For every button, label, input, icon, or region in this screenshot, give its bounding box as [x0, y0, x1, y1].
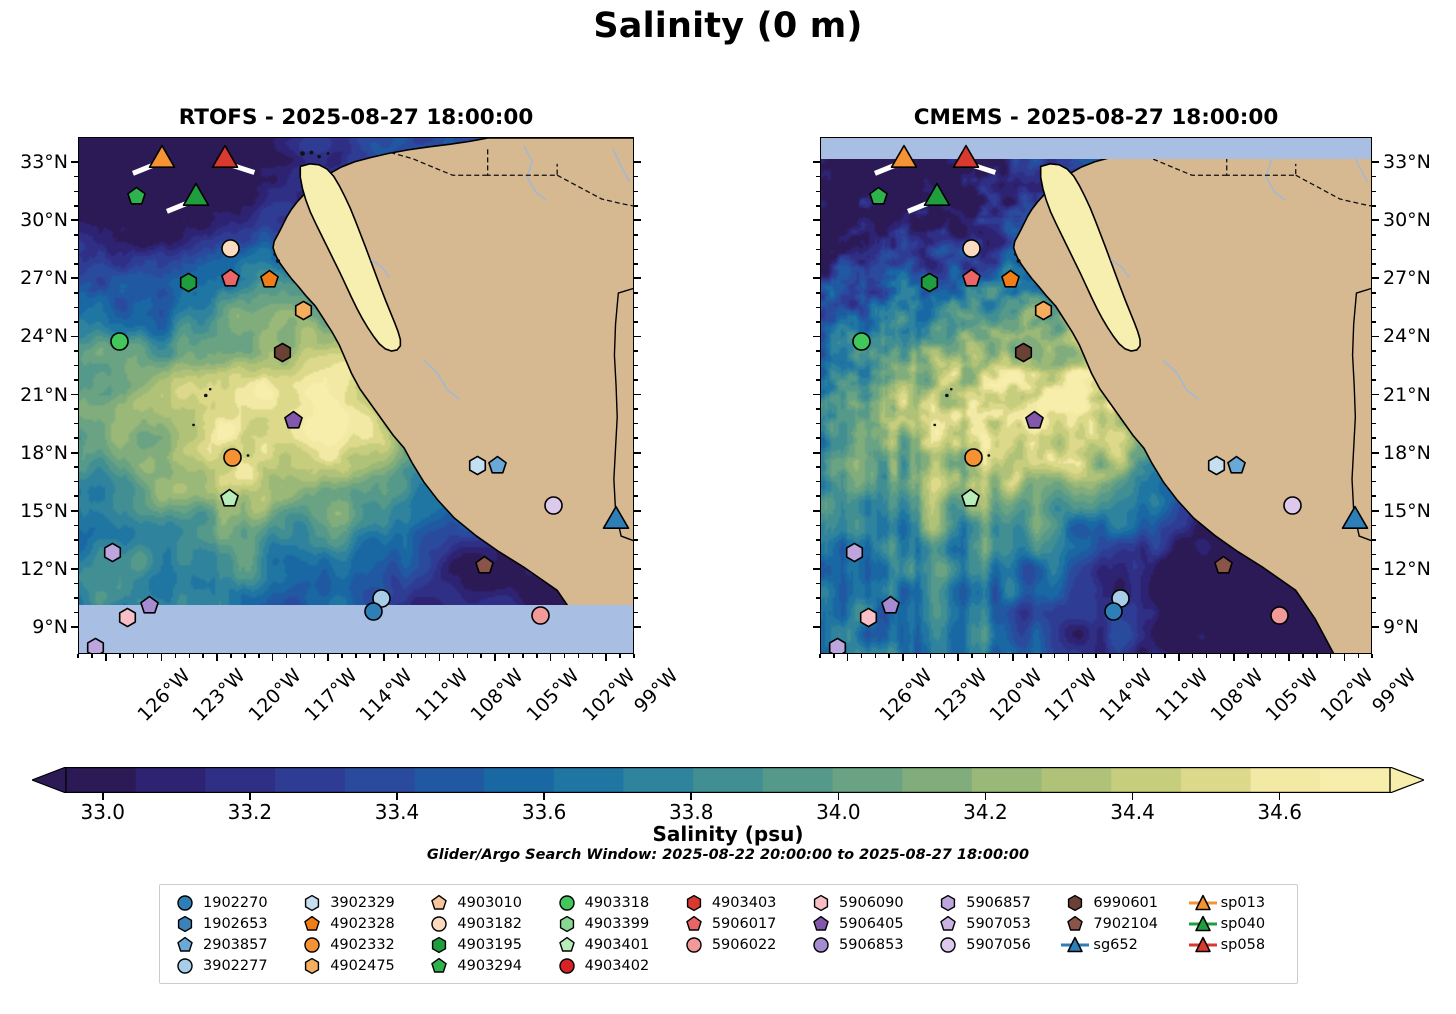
lat-tick-minor	[634, 583, 638, 585]
lat-tick-minor	[634, 176, 638, 178]
legend-label: 5906022	[709, 937, 777, 953]
lat-tick-major	[813, 161, 820, 163]
lon-tick-major	[1178, 654, 1180, 661]
lat-label: 30°N	[0, 211, 68, 230]
legend-column: 69906017902104sg652	[1060, 892, 1187, 978]
observation-marker-4903195[interactable]	[919, 272, 940, 293]
observation-marker-5906017[interactable]	[961, 268, 982, 289]
lat-label: 15°N	[0, 502, 68, 521]
lon-tick-major	[550, 654, 552, 661]
observation-marker-4903318[interactable]	[851, 331, 872, 352]
legend-item-sg652[interactable]: sg652	[1060, 934, 1187, 955]
legend-item-5907053[interactable]: 5907053	[933, 913, 1060, 934]
lon-tick-minor	[202, 654, 204, 658]
lon-tick-minor	[1261, 654, 1263, 658]
observation-marker-4902475[interactable]	[1033, 300, 1054, 321]
colorbar-tick-label: 34.4	[1110, 800, 1155, 824]
observation-marker-3902329[interactable]	[467, 455, 488, 476]
lon-tick-major	[1012, 654, 1014, 661]
lat-tick-major	[71, 277, 78, 279]
lon-label: 126°W	[135, 666, 194, 725]
lat-tick-minor	[74, 321, 78, 323]
lat-tick-minor	[1372, 379, 1376, 381]
legend-item-2903857[interactable]: 2903857	[170, 934, 297, 955]
lon-tick-minor	[1275, 654, 1277, 658]
lon-tick-minor	[1302, 654, 1304, 658]
lon-tick-minor	[300, 654, 302, 658]
lon-tick-minor	[411, 654, 413, 658]
lat-tick-minor	[816, 525, 820, 527]
lon-tick-minor	[1371, 654, 1373, 658]
legend-label: 5907053	[963, 916, 1031, 932]
legend-marker-1902653-icon	[170, 915, 200, 933]
observation-marker-sp013[interactable]	[148, 146, 176, 174]
legend-marker-5906405-icon	[806, 915, 836, 933]
legend-item-sp058[interactable]: sp058	[1188, 934, 1287, 955]
observation-marker-5907056[interactable]	[1282, 495, 1303, 516]
lat-tick-minor	[1372, 525, 1376, 527]
lat-tick-minor	[634, 408, 638, 410]
observation-marker-5906022[interactable]	[1269, 605, 1290, 626]
lon-tick-minor	[314, 654, 316, 658]
observation-marker-1902653[interactable]	[85, 637, 106, 654]
legend-label: 5906857	[963, 895, 1031, 911]
lat-tick-major	[1372, 336, 1379, 338]
lon-tick-minor	[944, 654, 946, 658]
lon-label: 120°W	[246, 666, 305, 725]
lon-label: 123°W	[932, 666, 991, 725]
observation-marker-1902270[interactable]	[363, 601, 384, 622]
lon-tick-major	[847, 654, 849, 661]
legend-item-4902332[interactable]: 4902332	[297, 934, 424, 955]
legend-item-5906022[interactable]: 5906022	[679, 934, 806, 955]
lon-label: 117°W	[1042, 666, 1101, 725]
lat-tick-minor	[74, 612, 78, 614]
legend-marker-5906853-icon	[806, 936, 836, 954]
legend-item-5906017[interactable]: 5906017	[679, 913, 806, 934]
observation-marker-5906022[interactable]	[530, 605, 551, 626]
legend-item-3902329[interactable]: 3902329	[297, 892, 424, 913]
legend-marker-4903403-icon	[679, 894, 709, 912]
observation-marker-sp040[interactable]	[923, 184, 951, 212]
lon-label: 108°W	[468, 666, 527, 725]
lat-tick-minor	[74, 205, 78, 207]
lon-tick-major	[105, 654, 107, 661]
observation-marker-sg652[interactable]	[602, 507, 630, 535]
observation-marker-2903857[interactable]	[487, 455, 508, 476]
lat-tick-minor	[1372, 205, 1376, 207]
legend-item-5906090[interactable]: 5906090	[806, 892, 933, 913]
observation-marker-5907056[interactable]	[543, 495, 564, 516]
lon-tick-minor	[861, 654, 863, 658]
legend-marker-4903401-icon	[552, 936, 582, 954]
lat-tick-minor	[634, 466, 638, 468]
lon-tick-minor	[564, 654, 566, 658]
lon-tick-minor	[578, 654, 580, 658]
lon-label: 111°W	[413, 666, 472, 725]
lat-tick-minor	[74, 597, 78, 599]
observation-marker-4902328[interactable]	[259, 269, 280, 290]
legend-label: sg652	[1090, 937, 1137, 953]
legend-marker-5906017-icon	[679, 915, 709, 933]
legend-item-4903195[interactable]: 4903195	[424, 934, 551, 955]
legend-label: 2903857	[200, 937, 268, 953]
observation-marker-sp058[interactable]	[211, 146, 239, 174]
lon-tick-minor	[1054, 654, 1056, 658]
observation-marker-sp058[interactable]	[952, 146, 980, 174]
lat-tick-minor	[816, 234, 820, 236]
legend-item-5906853[interactable]: 5906853	[806, 934, 933, 955]
lon-tick-major	[1233, 654, 1235, 661]
lat-tick-minor	[74, 307, 78, 309]
legend-label: 1902653	[200, 916, 268, 932]
lon-tick-minor	[453, 654, 455, 658]
lon-label: 102°W	[580, 666, 639, 725]
legend-item-4903401[interactable]: 4903401	[552, 934, 679, 955]
observation-marker-sg652[interactable]	[1341, 507, 1369, 535]
observation-marker-7902104[interactable]	[474, 555, 495, 576]
observation-marker-4903294[interactable]	[868, 186, 889, 207]
lat-tick-minor	[816, 292, 820, 294]
lat-tick-major	[634, 568, 641, 570]
lat-tick-minor	[816, 249, 820, 251]
map-panel-cmems[interactable]	[820, 137, 1372, 654]
lat-tick-minor	[816, 379, 820, 381]
observation-marker-4903195[interactable]	[178, 272, 199, 293]
lon-tick-minor	[1040, 654, 1042, 658]
lat-tick-major	[634, 626, 641, 628]
legend-item-4903294[interactable]: 4903294	[424, 955, 551, 976]
lat-tick-minor	[816, 597, 820, 599]
legend-item-5907056[interactable]: 5907056	[933, 934, 1060, 955]
observation-marker-5906857[interactable]	[102, 542, 123, 563]
legend-marker-5907056-icon	[933, 936, 963, 954]
legend-column: 1902270190265329038573902277	[170, 892, 297, 978]
legend-item-4903182[interactable]: 4903182	[424, 913, 551, 934]
lat-tick-minor	[634, 263, 638, 265]
legend-item-4903318[interactable]: 4903318	[552, 892, 679, 913]
colorbar-tick	[838, 793, 840, 800]
colorbar-tick	[396, 793, 398, 800]
legend-marker-5906022-icon	[679, 936, 709, 954]
lon-tick-minor	[1316, 654, 1318, 658]
colorbar-tick-label: 33.8	[669, 800, 714, 824]
lat-tick-minor	[816, 408, 820, 410]
lat-tick-major	[634, 394, 641, 396]
lon-tick-minor	[397, 654, 399, 658]
legend-marker-4903182-icon	[424, 915, 454, 933]
observation-marker-sp040[interactable]	[182, 184, 210, 212]
observation-marker-5906853[interactable]	[139, 595, 160, 616]
legend-item-sp013[interactable]: sp013	[1188, 892, 1287, 913]
lat-label: 24°N	[1383, 327, 1431, 346]
lat-label: 18°N	[1383, 444, 1431, 463]
lon-tick-minor	[1358, 654, 1360, 658]
lon-label: 114°W	[1097, 666, 1156, 725]
lon-tick-major	[327, 654, 329, 661]
lon-tick-minor	[971, 654, 973, 658]
lat-tick-minor	[74, 365, 78, 367]
lat-tick-minor	[634, 597, 638, 599]
lat-label: 12°N	[0, 560, 68, 579]
observation-marker-5906405[interactable]	[1024, 410, 1045, 431]
observation-marker-4902475[interactable]	[293, 300, 314, 321]
observation-marker-5906857[interactable]	[844, 542, 865, 563]
lat-tick-major	[813, 219, 820, 221]
lon-tick-minor	[1082, 654, 1084, 658]
lon-label: 120°W	[987, 666, 1046, 725]
legend-column: 590609059064055906853	[806, 892, 933, 978]
lon-tick-minor	[147, 654, 149, 658]
colorbar-tick-label: 33.6	[522, 800, 567, 824]
lon-tick-major	[902, 654, 904, 661]
lon-tick-minor	[1137, 654, 1139, 658]
legend-item-4903402[interactable]: 4903402	[552, 955, 679, 976]
observation-marker-5906853[interactable]	[880, 595, 901, 616]
lon-tick-minor	[189, 654, 191, 658]
legend-label: sp058	[1218, 937, 1265, 953]
lat-tick-minor	[816, 554, 820, 556]
observation-marker-7902104[interactable]	[1213, 555, 1234, 576]
lat-tick-minor	[1372, 321, 1376, 323]
observation-marker-4902328[interactable]	[1000, 269, 1021, 290]
lat-tick-minor	[816, 495, 820, 497]
lat-tick-major	[71, 161, 78, 163]
legend-item-1902270[interactable]: 1902270	[170, 892, 297, 913]
lat-tick-minor	[1372, 583, 1376, 585]
lon-tick-minor	[888, 654, 890, 658]
observation-marker-5906090[interactable]	[858, 607, 879, 628]
lon-label: 105°W	[1263, 666, 1322, 725]
lon-tick-major	[1344, 654, 1346, 661]
lat-tick-minor	[816, 321, 820, 323]
colorbar-tick	[690, 793, 692, 800]
lon-tick-minor	[522, 654, 524, 658]
legend-item-3902277[interactable]: 3902277	[170, 955, 297, 976]
lat-tick-minor	[634, 292, 638, 294]
panel-title-rtofs: RTOFS - 2025-08-27 18:00:00	[78, 105, 634, 130]
lon-label: 117°W	[302, 666, 361, 725]
platform-legend: 1902270190265329038573902277390232949023…	[159, 884, 1298, 984]
legend-item-7902104[interactable]: 7902104	[1060, 913, 1187, 934]
lat-tick-minor	[1372, 350, 1376, 352]
legend-label: 3902329	[327, 895, 395, 911]
lat-tick-minor	[816, 612, 820, 614]
lat-tick-major	[813, 510, 820, 512]
lat-tick-minor	[1372, 191, 1376, 193]
lon-tick-minor	[1220, 654, 1222, 658]
legend-label: 6990601	[1090, 895, 1158, 911]
lon-tick-minor	[619, 654, 621, 658]
legend-label: 4903402	[582, 958, 650, 974]
lon-tick-minor	[1026, 654, 1028, 658]
observation-marker-4902332[interactable]	[963, 447, 984, 468]
lat-tick-minor	[74, 495, 78, 497]
colorbar-tick	[1279, 793, 1281, 800]
legend-marker-4902328-icon	[297, 915, 327, 933]
lat-tick-minor	[74, 292, 78, 294]
lon-label: 123°W	[190, 666, 249, 725]
lat-tick-minor	[74, 481, 78, 483]
lat-label: 27°N	[0, 269, 68, 288]
lon-label: 126°W	[877, 666, 936, 725]
lon-tick-major	[494, 654, 496, 661]
legend-item-4902475[interactable]: 4902475	[297, 955, 424, 976]
legend-marker-4903294-icon	[424, 957, 454, 975]
legend-label: 4903403	[709, 895, 777, 911]
lon-tick-minor	[244, 654, 246, 658]
lat-tick-major	[71, 336, 78, 338]
lat-label: 21°N	[1383, 386, 1431, 405]
observation-marker-4902332[interactable]	[222, 447, 243, 468]
lat-tick-minor	[634, 365, 638, 367]
legend-marker-sp058-icon	[1188, 936, 1218, 954]
legend-label: 5906853	[836, 937, 904, 953]
observation-marker-3902329[interactable]	[1206, 455, 1227, 476]
legend-column: sp013sp040sp058	[1188, 892, 1287, 978]
lon-label: 114°W	[357, 666, 416, 725]
legend-item-1902653[interactable]: 1902653	[170, 913, 297, 934]
lat-tick-major	[813, 336, 820, 338]
map-panel-rtofs[interactable]	[78, 137, 634, 654]
legend-column: 4903010490318249031954903294	[424, 892, 551, 978]
lat-tick-minor	[74, 554, 78, 556]
legend-label: 4903401	[582, 937, 650, 953]
legend-marker-4903195-icon	[424, 936, 454, 954]
lon-tick-major	[272, 654, 274, 661]
lat-tick-major	[813, 277, 820, 279]
legend-item-sp040[interactable]: sp040	[1188, 913, 1287, 934]
lat-label: 33°N	[1383, 153, 1431, 172]
lon-tick-minor	[1192, 654, 1194, 658]
lat-tick-major	[634, 161, 641, 163]
lon-tick-minor	[286, 654, 288, 658]
observation-marker-4903401[interactable]	[960, 488, 981, 509]
lon-tick-minor	[425, 654, 427, 658]
lat-label: 24°N	[0, 327, 68, 346]
legend-marker-2903857-icon	[170, 936, 200, 954]
legend-label: 4903294	[454, 958, 522, 974]
lat-tick-major	[813, 568, 820, 570]
lat-tick-major	[634, 510, 641, 512]
lat-tick-minor	[634, 350, 638, 352]
observation-marker-1902270[interactable]	[1103, 601, 1124, 622]
observation-marker-4903294[interactable]	[126, 186, 147, 207]
lat-label: 21°N	[0, 386, 68, 405]
legend-item-5906405[interactable]: 5906405	[806, 913, 933, 934]
figure-title: Salinity (0 m)	[0, 6, 1456, 46]
lat-tick-minor	[74, 466, 78, 468]
lat-tick-minor	[816, 466, 820, 468]
legend-item-6990601[interactable]: 6990601	[1060, 892, 1187, 913]
lat-tick-minor	[816, 365, 820, 367]
observation-marker-sp013[interactable]	[890, 146, 918, 174]
lon-tick-major	[1288, 654, 1290, 661]
legend-marker-4902475-icon	[297, 957, 327, 975]
legend-column: 3902329490232849023324902475	[297, 892, 424, 978]
lat-tick-minor	[1372, 365, 1376, 367]
lon-tick-minor	[119, 654, 121, 658]
legend-marker-sg652-icon	[1060, 936, 1090, 954]
observation-marker-1902653[interactable]	[827, 637, 848, 654]
lon-tick-minor	[1109, 654, 1111, 658]
colorbar-title: Salinity (psu)	[0, 822, 1456, 846]
lon-tick-major	[957, 654, 959, 661]
lat-tick-minor	[74, 423, 78, 425]
legend-item-4902328[interactable]: 4902328	[297, 913, 424, 934]
legend-marker-4903399-icon	[552, 915, 582, 933]
lat-tick-major	[1372, 568, 1379, 570]
lat-tick-major	[71, 626, 78, 628]
lat-tick-minor	[816, 423, 820, 425]
lat-label: 12°N	[1383, 560, 1431, 579]
lon-tick-minor	[175, 654, 177, 658]
legend-label: 5906017	[709, 916, 777, 932]
legend-marker-6990601-icon	[1060, 894, 1090, 912]
lat-tick-minor	[816, 583, 820, 585]
lat-tick-major	[71, 452, 78, 454]
observation-marker-6990601[interactable]	[1013, 342, 1034, 363]
legend-item-4903399[interactable]: 4903399	[552, 913, 679, 934]
observation-marker-5906017[interactable]	[220, 268, 241, 289]
lat-tick-minor	[1372, 437, 1376, 439]
observation-marker-4903318[interactable]	[109, 331, 130, 352]
lat-tick-minor	[1372, 554, 1376, 556]
lat-tick-minor	[1372, 495, 1376, 497]
lat-tick-minor	[816, 350, 820, 352]
lat-tick-major	[1372, 510, 1379, 512]
observation-marker-4903182[interactable]	[961, 238, 982, 259]
lon-tick-minor	[633, 654, 635, 658]
lat-tick-major	[71, 219, 78, 221]
lon-label: 102°W	[1318, 666, 1377, 725]
legend-item-4903403[interactable]: 4903403	[679, 892, 806, 913]
observation-marker-6990601[interactable]	[272, 342, 293, 363]
legend-label: sp013	[1218, 895, 1265, 911]
lon-tick-minor	[77, 654, 79, 658]
lat-tick-minor	[1372, 466, 1376, 468]
search-window-caption: Glider/Argo Search Window: 2025-08-22 20…	[0, 847, 1456, 863]
lat-tick-minor	[74, 234, 78, 236]
observation-marker-5906090[interactable]	[117, 607, 138, 628]
lon-label: 99°W	[1370, 666, 1421, 717]
observation-marker-5906405[interactable]	[283, 410, 304, 431]
lon-tick-minor	[1206, 654, 1208, 658]
lon-tick-minor	[91, 654, 93, 658]
colorbar	[32, 767, 1424, 793]
lon-tick-minor	[875, 654, 877, 658]
legend-marker-4903318-icon	[552, 894, 582, 912]
colorbar-tick-label: 34.2	[963, 800, 1008, 824]
lon-tick-minor	[1095, 654, 1097, 658]
lon-tick-major	[605, 654, 607, 661]
lat-label: 18°N	[0, 444, 68, 463]
lon-tick-minor	[133, 654, 135, 658]
land-mask	[79, 138, 634, 654]
colorbar-tick-label: 33.4	[375, 800, 420, 824]
observation-marker-2903857[interactable]	[1226, 455, 1247, 476]
lat-tick-minor	[1372, 612, 1376, 614]
lat-tick-minor	[816, 205, 820, 207]
legend-label: 4903195	[454, 937, 522, 953]
legend-item-4903010[interactable]: 4903010	[424, 892, 551, 913]
lat-tick-minor	[634, 495, 638, 497]
legend-label: 4903010	[454, 895, 522, 911]
observation-marker-4903182[interactable]	[220, 238, 241, 259]
observation-marker-4903401[interactable]	[219, 488, 240, 509]
legend-item-5906857[interactable]: 5906857	[933, 892, 1060, 913]
lat-label: 30°N	[1383, 211, 1431, 230]
